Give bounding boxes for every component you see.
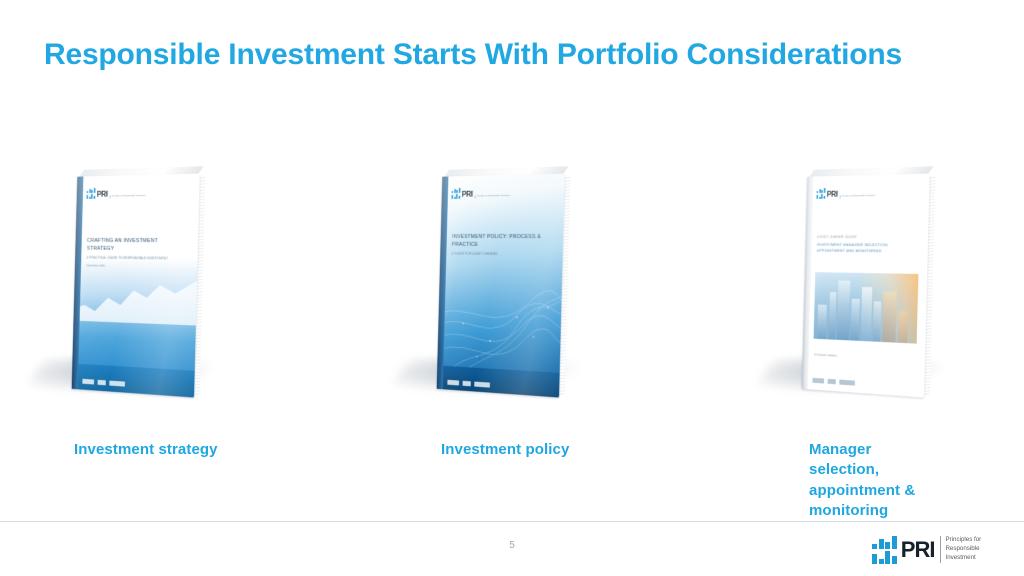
- footer-divider: [0, 521, 1024, 522]
- book-item-investment-strategy[interactable]: PRI Principles for Responsible Investmen…: [20, 150, 320, 430]
- pri-logo-tagline: Principles for Responsible Investment: [839, 195, 875, 199]
- footer-pri-logo: PRI Principles for Responsible Investmen…: [872, 536, 981, 564]
- pri-logo-mark: [451, 188, 460, 199]
- pri-logo-tagline: Principles for Responsible Investment: [474, 195, 510, 199]
- caption-line-3: appointment &: [809, 481, 959, 501]
- cover-title: INVESTMENT MANAGER SELECTION, APPOINTMEN…: [817, 242, 918, 255]
- book-caption-investment-strategy: Investment strategy: [74, 440, 218, 460]
- cover-title: INVESTMENT POLICY: PROCESS & PRACTICE: [452, 233, 552, 250]
- book-mockup: PRI Principles for Responsible Investmen…: [72, 173, 200, 397]
- cover-pri-logo: PRI Principles for Responsible Investmen…: [451, 187, 510, 199]
- tagline-line-1: Principles for: [945, 536, 981, 545]
- cover-text-block: ASSET OWNER GUIDE INVESTMENT MANAGER SEL…: [817, 235, 918, 255]
- cover-partner-logos: [812, 378, 855, 386]
- cover-text-block: INVESTMENT POLICY: PROCESS & PRACTICE A …: [452, 233, 552, 258]
- cover-pri-logo: PRI Principles for Responsible Investmen…: [86, 187, 145, 199]
- page-title: Responsible Investment Starts With Portf…: [44, 38, 994, 72]
- slide-canvas: Responsible Investment Starts With Portf…: [0, 0, 1024, 576]
- book-item-investment-policy[interactable]: PRI Principles for Responsible Investmen…: [385, 150, 685, 430]
- book-item-manager-selection[interactable]: PRI Principles for Responsible Investmen…: [750, 150, 1024, 430]
- cover-city-photo: [813, 272, 918, 343]
- book-spine: [802, 177, 814, 390]
- cover-subtitle: A PRACTICAL GUIDE TO RESPONSIBLE INVESTM…: [87, 256, 185, 262]
- tagline-line-3: Investment: [945, 554, 981, 563]
- pri-logo-word: PRI: [827, 190, 838, 198]
- book-caption-manager-selection: Manager selection, appointment & monitor…: [809, 440, 959, 521]
- cover-eyebrow: ASSET OWNER GUIDE: [817, 235, 917, 239]
- cover-pri-logo: PRI Principles for Responsible Investmen…: [816, 187, 875, 199]
- pri-logo-word: PRI: [901, 539, 935, 561]
- pri-logo-tagline: Principles for Responsible Investment: [109, 195, 145, 199]
- cover-mountain-graphic: [73, 276, 197, 326]
- book-cover: PRI Principles for Responsible Investmen…: [72, 173, 200, 397]
- cover-title: CRAFTING AN INVESTMENT STRATEGY: [87, 237, 186, 254]
- pri-logo-word: PRI: [462, 190, 473, 198]
- cover-text-block: CRAFTING AN INVESTMENT STRATEGY A PRACTI…: [86, 237, 185, 269]
- book-cover: PRI Principles for Responsible Investmen…: [437, 173, 565, 397]
- tagline-line-2: Responsible: [945, 545, 981, 554]
- book-cover: PRI Principles for Responsible Investmen…: [802, 173, 930, 397]
- book-caption-investment-policy: Investment policy: [441, 440, 569, 460]
- pri-logo-word: PRI: [97, 190, 108, 198]
- book-gallery: PRI Principles for Responsible Investmen…: [0, 150, 1024, 430]
- book-mockup: PRI Principles for Responsible Investmen…: [437, 173, 565, 397]
- pri-logo-mark: [872, 536, 897, 564]
- caption-line-1: Manager: [809, 440, 959, 460]
- book-mockup: PRI Principles for Responsible Investmen…: [802, 173, 930, 397]
- pri-logo-mark: [86, 188, 95, 199]
- pri-logo-tagline: Principles for Responsible Investment: [940, 536, 981, 563]
- caption-line-4: monitoring: [809, 501, 959, 521]
- pri-logo-mark: [816, 188, 825, 199]
- caption-line-2: selection,: [809, 460, 959, 480]
- page-number: 5: [0, 540, 1024, 551]
